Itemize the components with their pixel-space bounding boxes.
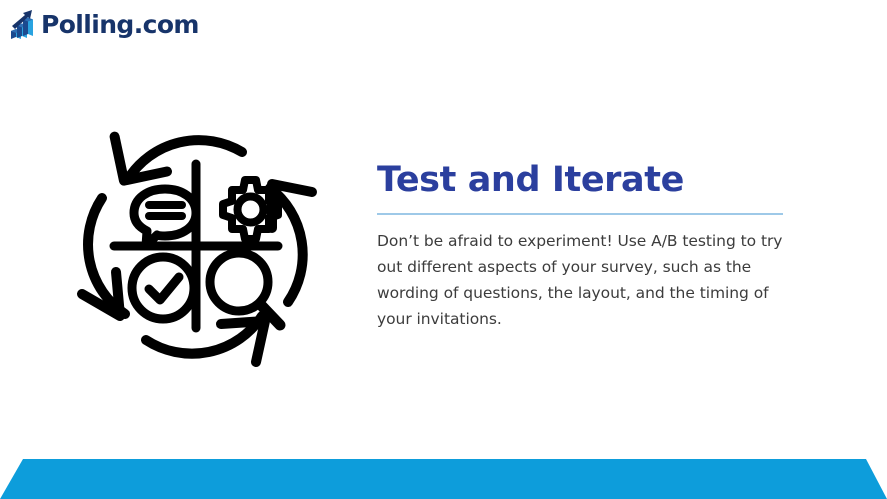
- cycle-arrow-left: [82, 198, 125, 316]
- check-circle-icon: [132, 257, 194, 319]
- cycle-arrow-top: [115, 127, 242, 180]
- page-title: Test and Iterate: [377, 160, 785, 200]
- bottom-accent-banner: [0, 459, 887, 499]
- magnifying-glass-icon: [210, 253, 280, 325]
- body-paragraph: Don’t be afraid to experiment! Use A/B t…: [377, 215, 785, 333]
- content-column: Test and Iterate Don’t be afraid to expe…: [377, 160, 785, 333]
- banner-shape: [0, 459, 887, 499]
- bar-chart-growth-icon: [10, 9, 36, 39]
- test-and-iterate-cycle-icon: [66, 116, 326, 376]
- brand-name: Polling.com: [41, 12, 199, 37]
- brand-logo: Polling.com: [10, 9, 199, 39]
- speech-bubble-icon: [134, 189, 196, 246]
